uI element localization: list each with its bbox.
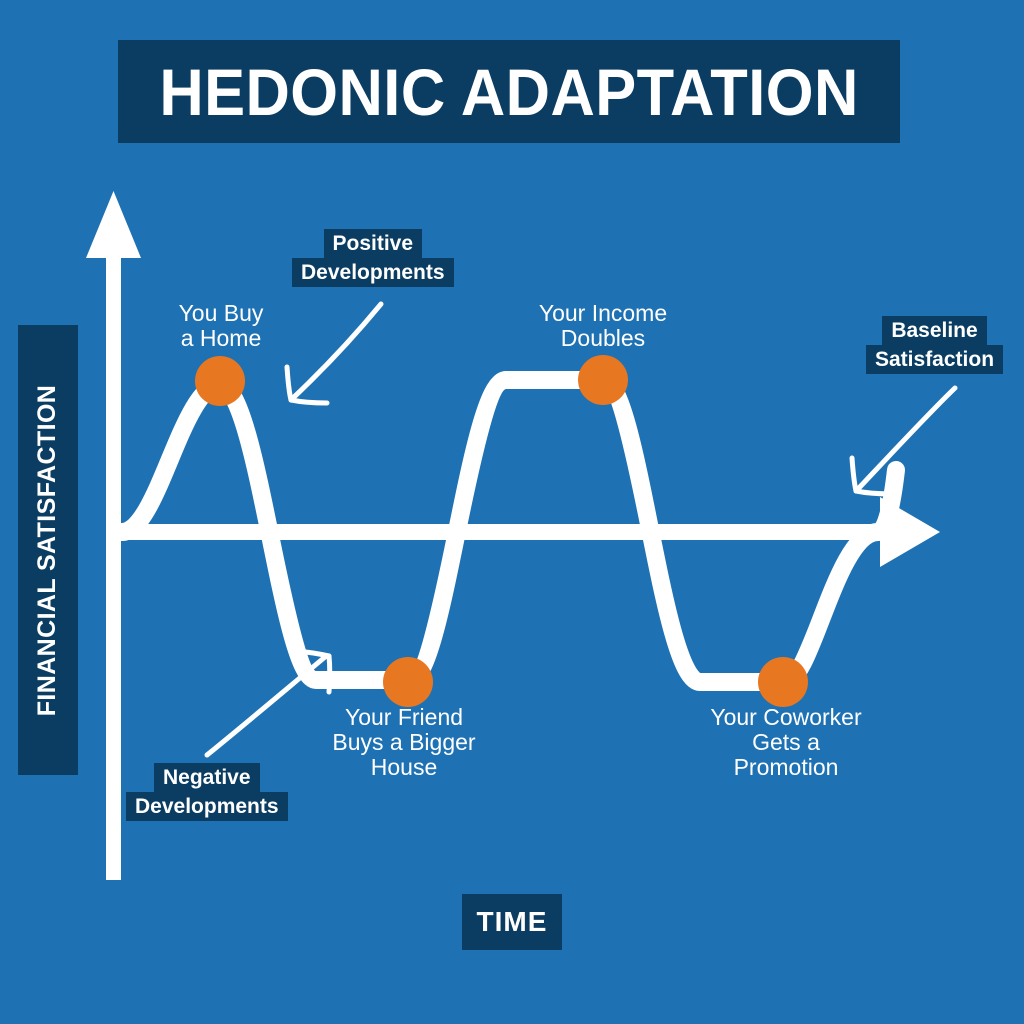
annotation-line: Satisfaction [866,345,1003,374]
negative-developments-arrow-icon [207,651,330,755]
annotation-positive-developments: Positive Developments [292,229,454,287]
infographic-canvas: HEDONIC ADAPTATION FINANCIAL SATISFACTIO… [0,0,1024,1024]
annotation-negative-developments: Negative Developments [126,763,288,821]
event-label-friend-bigger-house: Your Friend Buys a Bigger House [322,705,486,780]
annotation-baseline-satisfaction: Baseline Satisfaction [866,316,1003,374]
x-axis-arrow-icon [106,497,940,567]
annotation-line: Positive [324,229,423,258]
event-label-coworker-promotion: Your Coworker Gets a Promotion [700,705,872,780]
event-label-you-buy-a-home: You Buy a Home [142,301,300,351]
annotation-line: Developments [292,258,454,287]
hedonic-adaptation-chart [0,0,1024,1024]
x-axis-label: TIME [477,908,548,936]
x-axis-label-badge: TIME [462,894,562,950]
annotation-line: Negative [154,763,260,792]
event-label-your-income-doubles: Your Income Doubles [522,301,684,351]
annotation-line: Baseline [882,316,986,345]
annotation-line: Developments [126,792,288,821]
event-marker-you-buy-a-home [195,356,245,406]
event-marker-your-income-doubles [578,355,628,405]
event-marker-coworker-promotion [758,657,808,707]
positive-developments-arrow-icon [287,304,381,403]
event-marker-friend-bigger-house [383,657,433,707]
